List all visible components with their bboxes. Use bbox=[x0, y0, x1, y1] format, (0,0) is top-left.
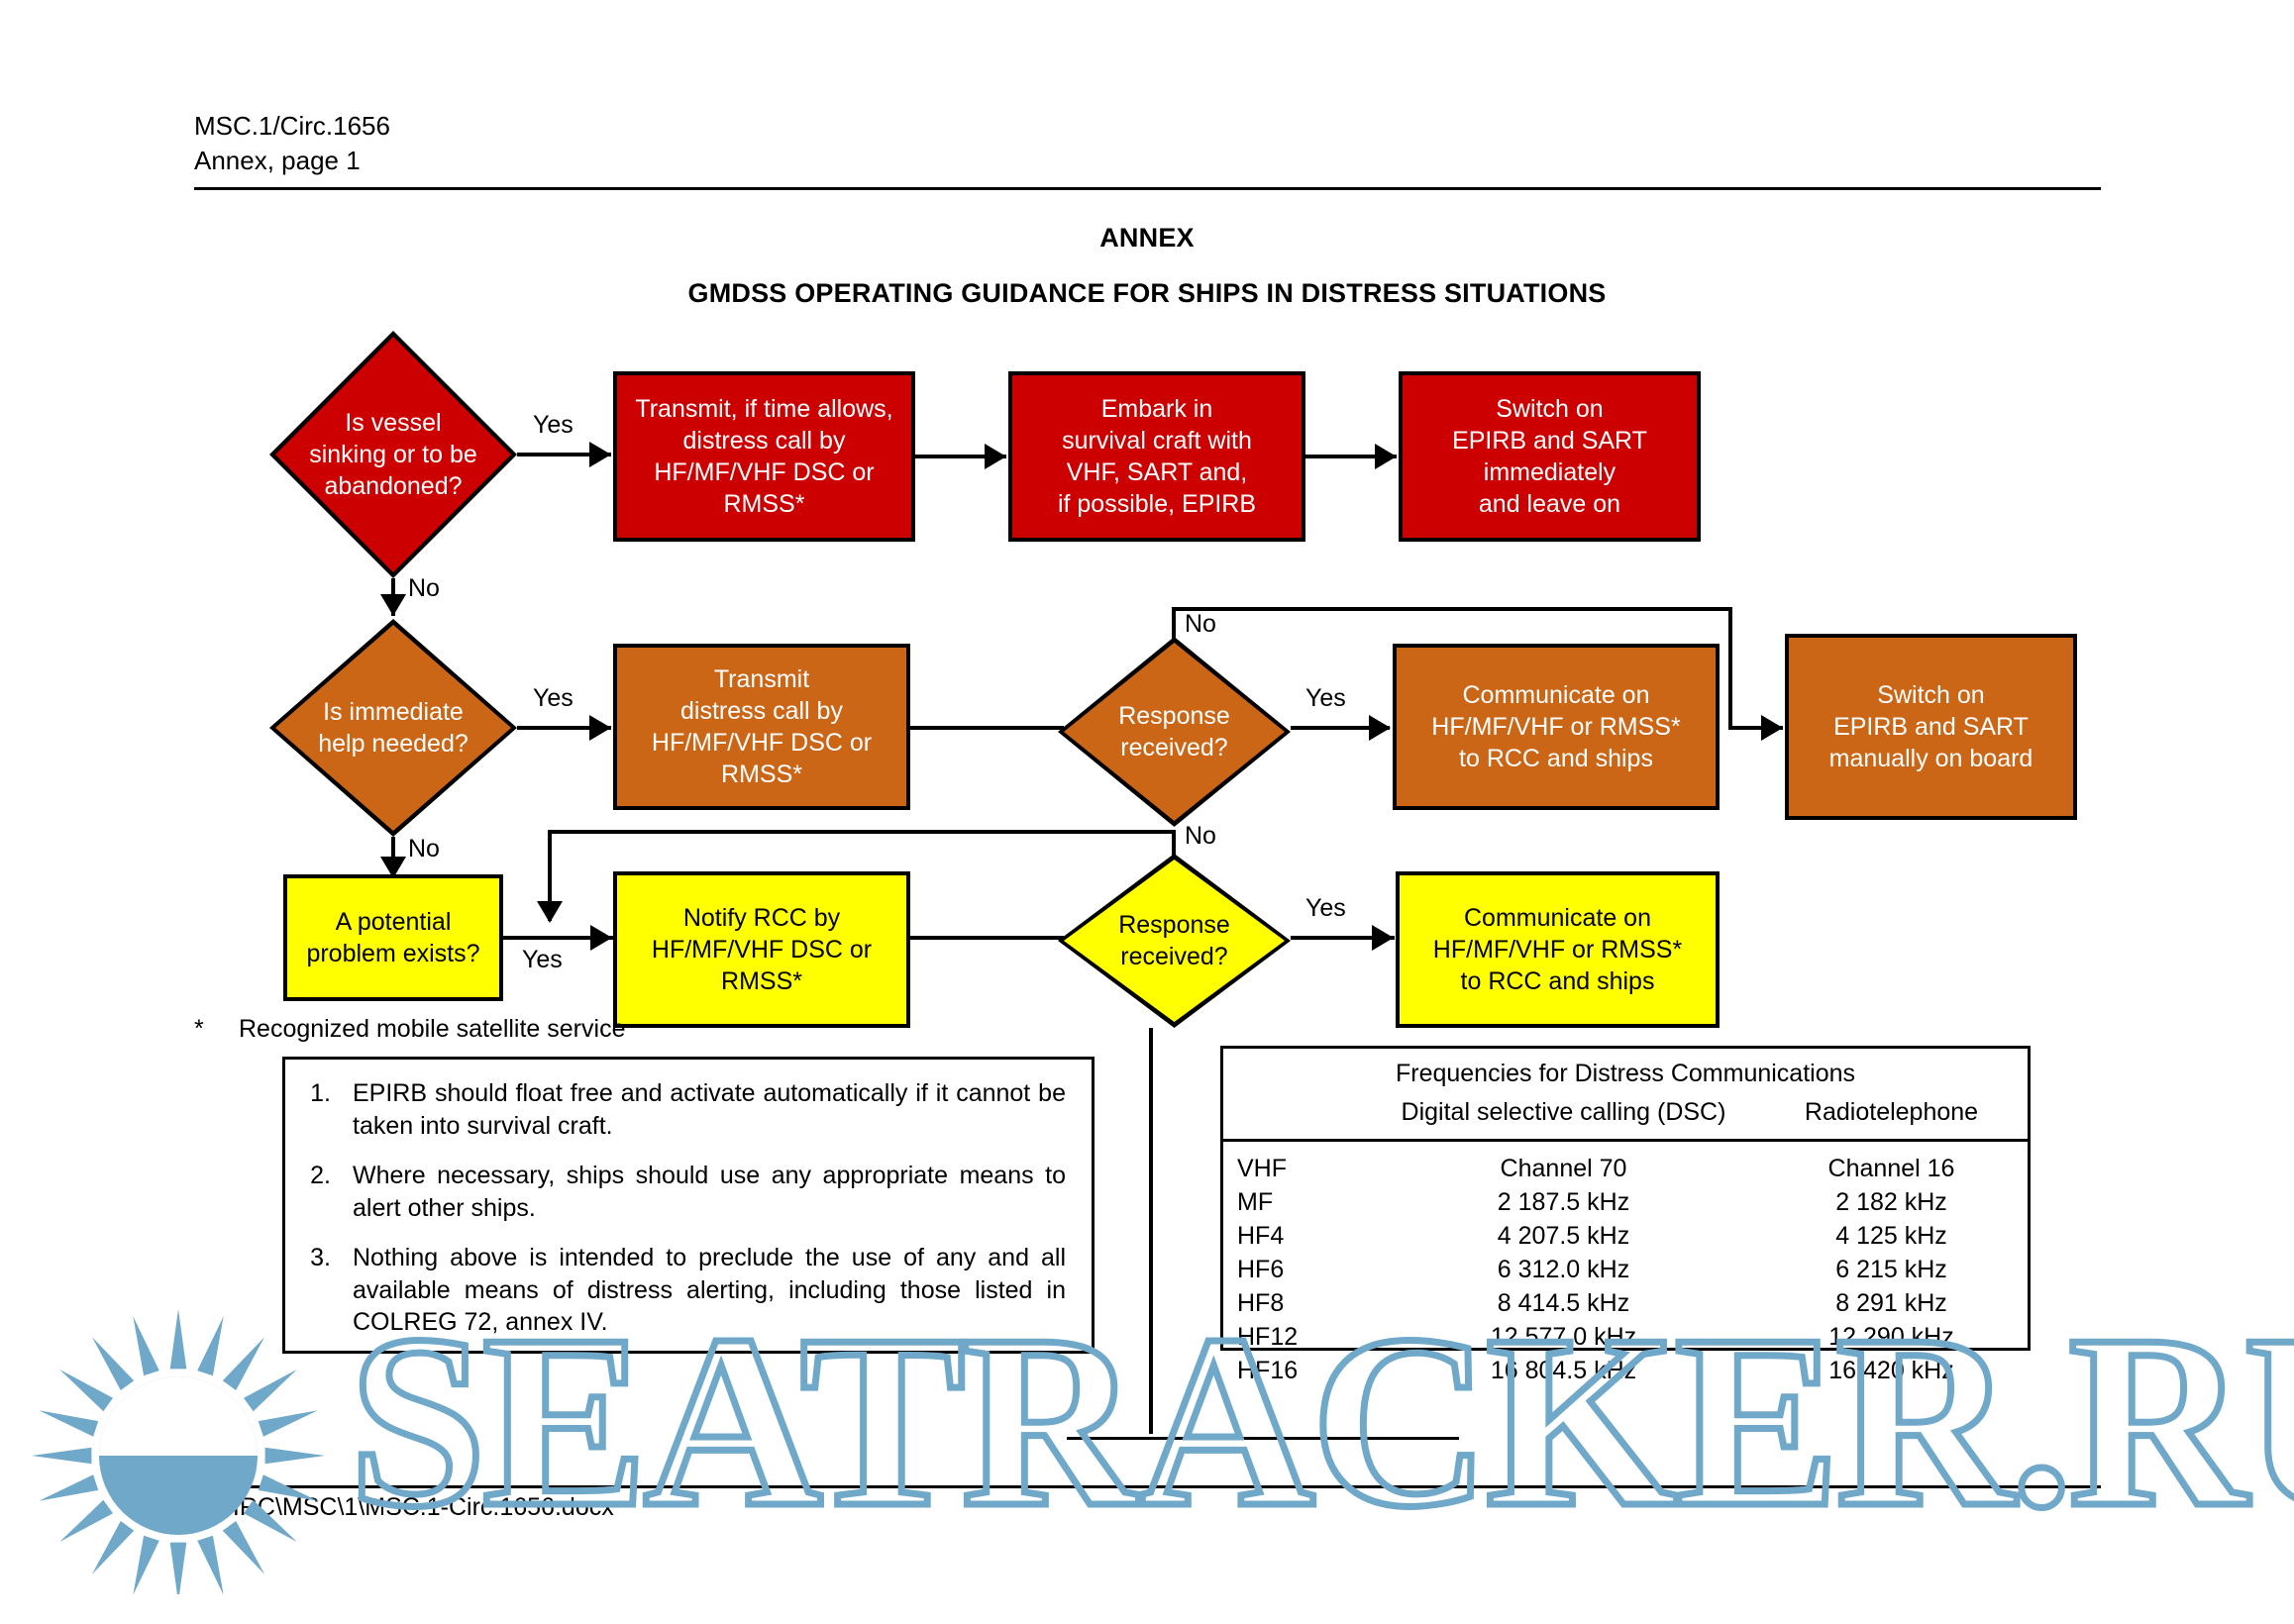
decision-response-received-orange-label: Responsereceived? bbox=[1058, 637, 1291, 827]
arrow-orange-no bbox=[1761, 715, 1783, 741]
table-row: HF4 4 207.5 kHz 4 125 kHz bbox=[1223, 1219, 2028, 1253]
connector-orange-no-down-yellow bbox=[391, 837, 395, 878]
connector-orange-no-across bbox=[1172, 607, 1732, 611]
note-number: 1. bbox=[295, 1077, 353, 1142]
footer-short-rule bbox=[1067, 1437, 1459, 1440]
connector-yellow-no-up bbox=[1172, 830, 1176, 856]
table-row: HF16 16 804.5 kHz 16 420 kHz bbox=[1223, 1354, 2028, 1387]
frequency-table-header-row: Digital selective calling (DSC) Radiotel… bbox=[1223, 1098, 2028, 1127]
document-header: MSC.1/Circ.1656 Annex, page 1 bbox=[194, 109, 390, 178]
table-row: HF12 12 577.0 kHz 12 290 kHz bbox=[1223, 1320, 2028, 1354]
note-number: 3. bbox=[295, 1242, 353, 1339]
box-switch-on-epirb-manually[interactable]: Switch onEPIRB and SARTmanually on board bbox=[1785, 634, 2077, 820]
box-potential-problem-label: A potentialproblem exists? bbox=[306, 906, 479, 969]
cell-band: HF16 bbox=[1223, 1354, 1372, 1387]
label-yellow-yes: Yes bbox=[522, 946, 563, 974]
cell-dsc: Channel 70 bbox=[1372, 1152, 1755, 1185]
header-divider bbox=[194, 187, 2101, 190]
frequency-table: Frequencies for Distress Communications … bbox=[1220, 1046, 2031, 1351]
arrow-red-1-2 bbox=[985, 444, 1006, 469]
connector-red-1-2 bbox=[915, 455, 1006, 458]
decision-immediate-help-label: Is immediatehelp needed? bbox=[269, 619, 517, 837]
box-switch-on-epirb-immediately-label: Switch onEPIRB and SARTimmediatelyand le… bbox=[1452, 393, 1647, 520]
cell-dsc: 4 207.5 kHz bbox=[1372, 1219, 1755, 1253]
note-text: Where necessary, ships should use any ap… bbox=[353, 1160, 1066, 1224]
cell-rt: 12 290 kHz bbox=[1755, 1320, 2028, 1354]
cell-rt: 2 182 kHz bbox=[1755, 1185, 2028, 1219]
connector-orange-no-up bbox=[1172, 607, 1176, 640]
decision-vessel-sinking-label: Is vesselsinking or to beabandoned? bbox=[269, 331, 517, 578]
note-item: 2. Where necessary, ships should use any… bbox=[295, 1160, 1066, 1224]
decision-response-received-yellow-label: Responsereceived? bbox=[1058, 854, 1291, 1028]
note-item: 3. Nothing above is intended to preclude… bbox=[295, 1242, 1066, 1339]
note-number: 2. bbox=[295, 1160, 353, 1224]
box-communicate-orange-label: Communicate onHF/MF/VHF or RMSS*to RCC a… bbox=[1431, 679, 1680, 774]
decision-vessel-sinking[interactable]: Is vesselsinking or to beabandoned? bbox=[269, 331, 517, 578]
connector-red-no bbox=[391, 578, 395, 616]
connector-yellow-yes bbox=[503, 936, 614, 940]
label-yellow-response-yes: Yes bbox=[1305, 894, 1346, 923]
box-transmit-distress-orange-label: Transmitdistress call byHF/MF/VHF DSC or… bbox=[652, 663, 872, 790]
table-row: MF 2 187.5 kHz 2 182 kHz bbox=[1223, 1185, 2028, 1219]
connector-orange-response-yes bbox=[1291, 726, 1390, 730]
connector-yellow-response-yes bbox=[1291, 936, 1395, 940]
connector-yellow-no-across bbox=[548, 830, 1174, 834]
connector-yellow-no-down bbox=[548, 830, 552, 921]
notes-panel: 1. EPIRB should float free and activate … bbox=[282, 1057, 1095, 1354]
cell-band: HF12 bbox=[1223, 1320, 1372, 1354]
connector-red-yes bbox=[517, 453, 611, 457]
footnote-marker: * bbox=[194, 1015, 239, 1044]
footnote-rmss: *Recognized mobile satellite service bbox=[194, 1015, 625, 1044]
table-row: HF6 6 312.0 kHz 6 215 kHz bbox=[1223, 1253, 2028, 1286]
cell-band: HF8 bbox=[1223, 1286, 1372, 1320]
cell-band: HF4 bbox=[1223, 1219, 1372, 1253]
box-switch-on-epirb-immediately[interactable]: Switch onEPIRB and SARTimmediatelyand le… bbox=[1399, 371, 1701, 542]
box-notify-rcc-label: Notify RCC byHF/MF/VHF DSC orRMSS* bbox=[652, 902, 872, 997]
connector-orange-no-into-box bbox=[1728, 726, 1783, 730]
box-notify-rcc[interactable]: Notify RCC byHF/MF/VHF DSC orRMSS* bbox=[613, 871, 910, 1028]
frequency-col-rt-header: Radiotelephone bbox=[1755, 1098, 2028, 1127]
frequency-table-title: Frequencies for Distress Communications bbox=[1223, 1060, 2028, 1088]
label-orange-no: No bbox=[1185, 610, 1216, 639]
box-transmit-distress-orange[interactable]: Transmitdistress call byHF/MF/VHF DSC or… bbox=[613, 644, 910, 810]
connector-orange-yes bbox=[517, 726, 611, 730]
guidance-title: GMDSS OPERATING GUIDANCE FOR SHIPS IN DI… bbox=[0, 278, 2294, 309]
cell-dsc: 6 312.0 kHz bbox=[1372, 1253, 1755, 1286]
decision-immediate-help[interactable]: Is immediatehelp needed? bbox=[269, 619, 517, 837]
cell-dsc: 12 577.0 kHz bbox=[1372, 1320, 1755, 1354]
label-orange-response-yes: Yes bbox=[1305, 684, 1346, 713]
cell-band: MF bbox=[1223, 1185, 1372, 1219]
footnote-text: Recognized mobile satellite service bbox=[239, 1015, 625, 1043]
cell-band: HF6 bbox=[1223, 1253, 1372, 1286]
annex-title: ANNEX bbox=[0, 223, 2294, 254]
arrow-red-2-3 bbox=[1375, 444, 1397, 469]
frequency-col-band-header bbox=[1223, 1098, 1372, 1127]
cell-dsc: 2 187.5 kHz bbox=[1372, 1185, 1755, 1219]
connector-orange-to-response bbox=[910, 726, 1064, 730]
cell-dsc: 16 804.5 kHz bbox=[1372, 1354, 1755, 1387]
box-embark-survival-craft-label: Embark insurvival craft withVHF, SART an… bbox=[1058, 393, 1256, 520]
connector-yellow-tail bbox=[1149, 1028, 1153, 1434]
decision-response-received-yellow[interactable]: Responsereceived? bbox=[1058, 854, 1291, 1028]
cell-dsc: 8 414.5 kHz bbox=[1372, 1286, 1755, 1320]
connector-yellow-to-response bbox=[910, 936, 1064, 940]
arrow-yellow-response-yes bbox=[1372, 925, 1394, 951]
label-orange-no-yellow: No bbox=[408, 835, 440, 863]
doc-number: MSC.1/Circ.1656 bbox=[194, 109, 390, 144]
cell-rt: 6 215 kHz bbox=[1755, 1253, 2028, 1286]
decision-response-received-orange[interactable]: Responsereceived? bbox=[1058, 637, 1291, 827]
cell-rt: Channel 16 bbox=[1755, 1152, 2028, 1185]
document-page: MSC.1/Circ.1656 Annex, page 1 ANNEX GMDS… bbox=[0, 0, 2294, 1622]
box-embark-survival-craft[interactable]: Embark insurvival craft withVHF, SART an… bbox=[1008, 371, 1305, 542]
box-potential-problem[interactable]: A potentialproblem exists? bbox=[283, 874, 503, 1001]
arrow-red-yes bbox=[589, 442, 611, 467]
connector-orange-no-down bbox=[1728, 607, 1732, 726]
arrow-orange-yes bbox=[589, 715, 611, 741]
connector-red-2-3 bbox=[1305, 455, 1397, 458]
arrow-red-no bbox=[380, 594, 406, 616]
cell-band: VHF bbox=[1223, 1152, 1372, 1185]
table-row: VHF Channel 70 Channel 16 bbox=[1223, 1152, 2028, 1185]
box-communicate-yellow[interactable]: Communicate onHF/MF/VHF or RMSS*to RCC a… bbox=[1396, 871, 1720, 1028]
table-row: HF8 8 414.5 kHz 8 291 kHz bbox=[1223, 1286, 2028, 1320]
arrow-yellow-yes bbox=[590, 925, 612, 951]
note-text: EPIRB should float free and activate aut… bbox=[353, 1077, 1066, 1142]
cell-rt: 8 291 kHz bbox=[1755, 1286, 2028, 1320]
page-label: Annex, page 1 bbox=[194, 144, 390, 178]
box-communicate-yellow-label: Communicate onHF/MF/VHF or RMSS*to RCC a… bbox=[1433, 902, 1682, 997]
note-text: Nothing above is intended to preclude th… bbox=[353, 1242, 1066, 1339]
cell-rt: 16 420 kHz bbox=[1755, 1354, 2028, 1387]
box-transmit-distress-red[interactable]: Transmit, if time allows,distress call b… bbox=[613, 371, 915, 542]
box-transmit-distress-red-label: Transmit, if time allows,distress call b… bbox=[635, 393, 892, 520]
note-item: 1. EPIRB should float free and activate … bbox=[295, 1077, 1066, 1142]
frequency-col-dsc-header: Digital selective calling (DSC) bbox=[1372, 1098, 1755, 1127]
box-switch-on-epirb-manually-label: Switch onEPIRB and SARTmanually on board bbox=[1829, 679, 2033, 774]
frequency-table-body: VHF Channel 70 Channel 16 MF 2 187.5 kHz… bbox=[1223, 1142, 2028, 1387]
footer-divider bbox=[194, 1485, 2101, 1488]
cell-rt: 4 125 kHz bbox=[1755, 1219, 2028, 1253]
arrow-orange-response-yes bbox=[1369, 715, 1391, 741]
label-red-no: No bbox=[408, 574, 440, 603]
box-communicate-orange[interactable]: Communicate onHF/MF/VHF or RMSS*to RCC a… bbox=[1393, 644, 1720, 810]
footer-file-path: I:\CIRC\MSC\1\MSC.1-Circ.1656.docx bbox=[194, 1493, 614, 1522]
label-red-yes: Yes bbox=[533, 411, 573, 440]
arrow-yellow-no bbox=[537, 901, 563, 923]
label-orange-yes: Yes bbox=[533, 684, 573, 713]
